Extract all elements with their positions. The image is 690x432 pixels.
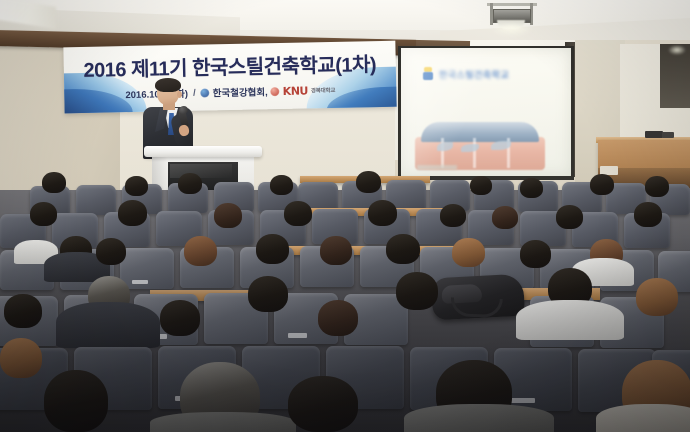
- audience-head: [556, 205, 583, 229]
- audience-head: [214, 203, 242, 228]
- slide-caption: [417, 165, 457, 170]
- stadium-column: [473, 138, 476, 168]
- logo-bottom-shape: [423, 72, 433, 80]
- lectern-panel-gloss: [170, 164, 232, 178]
- right-wall-light: [668, 45, 686, 55]
- audience-head: [440, 204, 466, 227]
- event-banner: 2016 제11기 한국스틸건축학교(1차) 2016.10.25(화) / 한…: [63, 41, 396, 114]
- floor-shadow: [0, 236, 690, 432]
- audience-head: [470, 176, 492, 195]
- audience-head: [284, 201, 312, 226]
- booth-equipment-secondary: [662, 132, 674, 138]
- seat[interactable]: [76, 185, 116, 215]
- audience-head: [492, 206, 518, 229]
- slide-title: 한국스틸건축학교: [439, 68, 549, 79]
- audience-head: [42, 172, 66, 193]
- projection-screen: 한국스틸건축학교: [401, 48, 571, 176]
- audience-head: [368, 200, 397, 226]
- audience-head: [590, 174, 614, 195]
- projector-glow: [489, 25, 535, 37]
- presenter-ear: [177, 91, 182, 98]
- audience-head: [178, 173, 202, 194]
- booth-equipment: [645, 131, 663, 138]
- slide-stadium-render: [415, 122, 545, 170]
- audience-head: [634, 202, 662, 227]
- audience-head: [270, 175, 293, 195]
- presenter-hair: [155, 78, 181, 92]
- lecture-hall-photo: 2016 제11기 한국스틸건축학교(1차) 2016.10.25(화) / 한…: [0, 0, 690, 432]
- banner-org-primary: 한국철강협회,: [213, 84, 268, 99]
- audience-head: [520, 178, 543, 198]
- audience-head: [118, 200, 147, 226]
- presenter: [139, 80, 203, 156]
- ceiling-projector-icon: [487, 3, 537, 33]
- presentation-logo-icon: [423, 67, 433, 80]
- audience-head: [125, 176, 148, 196]
- audience-head: [645, 176, 669, 197]
- stadium-roof: [421, 122, 539, 142]
- lectern-top: [144, 146, 262, 157]
- audience-head: [356, 171, 381, 193]
- knu-emblem-icon: [271, 87, 280, 96]
- audience-head: [30, 202, 57, 226]
- banner-knu-abbr: KNU: [283, 84, 308, 98]
- banner-knu-full: 경북대학교: [311, 86, 335, 94]
